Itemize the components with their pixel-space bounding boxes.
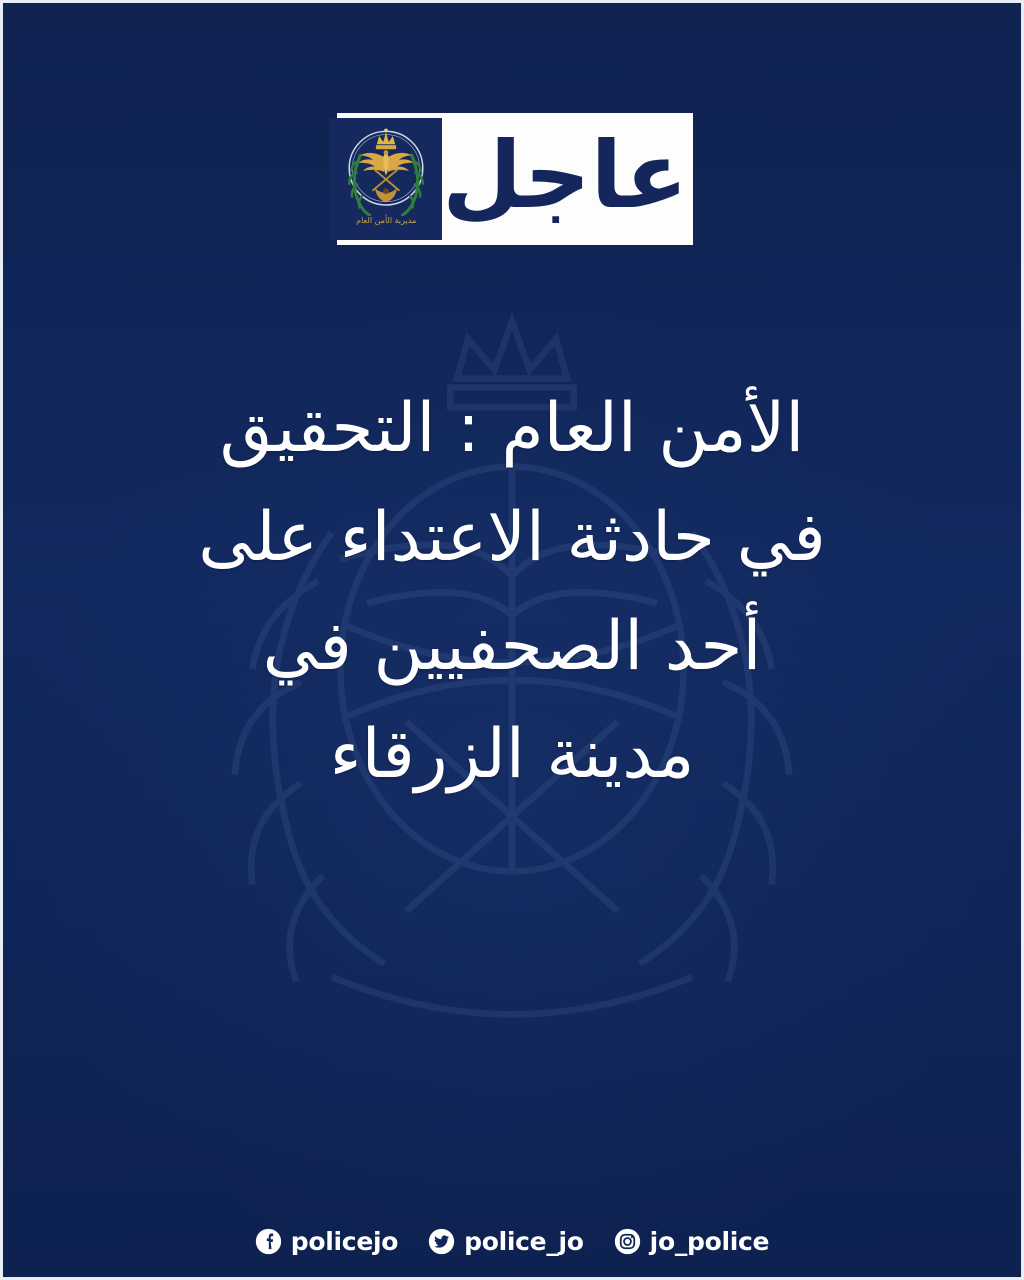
headline-line-2: في حادثة الاعتداء على: [113, 484, 911, 593]
headline-line-4: مدينة الزرقاء: [113, 701, 911, 810]
social-link-instagram[interactable]: jo_police: [614, 1228, 770, 1255]
emblem-panel: مديرية الأمن العام: [330, 118, 442, 240]
facebook-handle[interactable]: policejo: [291, 1229, 398, 1254]
social-link-twitter[interactable]: police_jo: [428, 1228, 584, 1255]
headline-line-3: أحد الصحفيين في: [113, 593, 911, 702]
instagram-handle[interactable]: jo_police: [650, 1229, 770, 1254]
twitter-handle[interactable]: police_jo: [464, 1229, 584, 1254]
social-bar: policejo police_jo jo_police: [3, 1228, 1021, 1255]
social-link-facebook[interactable]: policejo: [255, 1228, 398, 1255]
headline-line-1: الأمن العام : التحقيق: [113, 375, 911, 484]
twitter-icon[interactable]: [428, 1228, 455, 1255]
eagle-icon: [359, 150, 414, 175]
jordan-public-security-emblem: [340, 124, 432, 216]
urgent-banner: عاجل: [337, 113, 693, 245]
emblem-caption: مديرية الأمن العام: [356, 217, 416, 226]
facebook-icon[interactable]: [255, 1228, 282, 1255]
instagram-icon[interactable]: [614, 1228, 641, 1255]
announcement-card: عاجل: [0, 0, 1024, 1280]
headline: الأمن العام : التحقيق في حادثة الاعتداء …: [3, 375, 1021, 810]
urgent-label: عاجل: [442, 118, 688, 240]
